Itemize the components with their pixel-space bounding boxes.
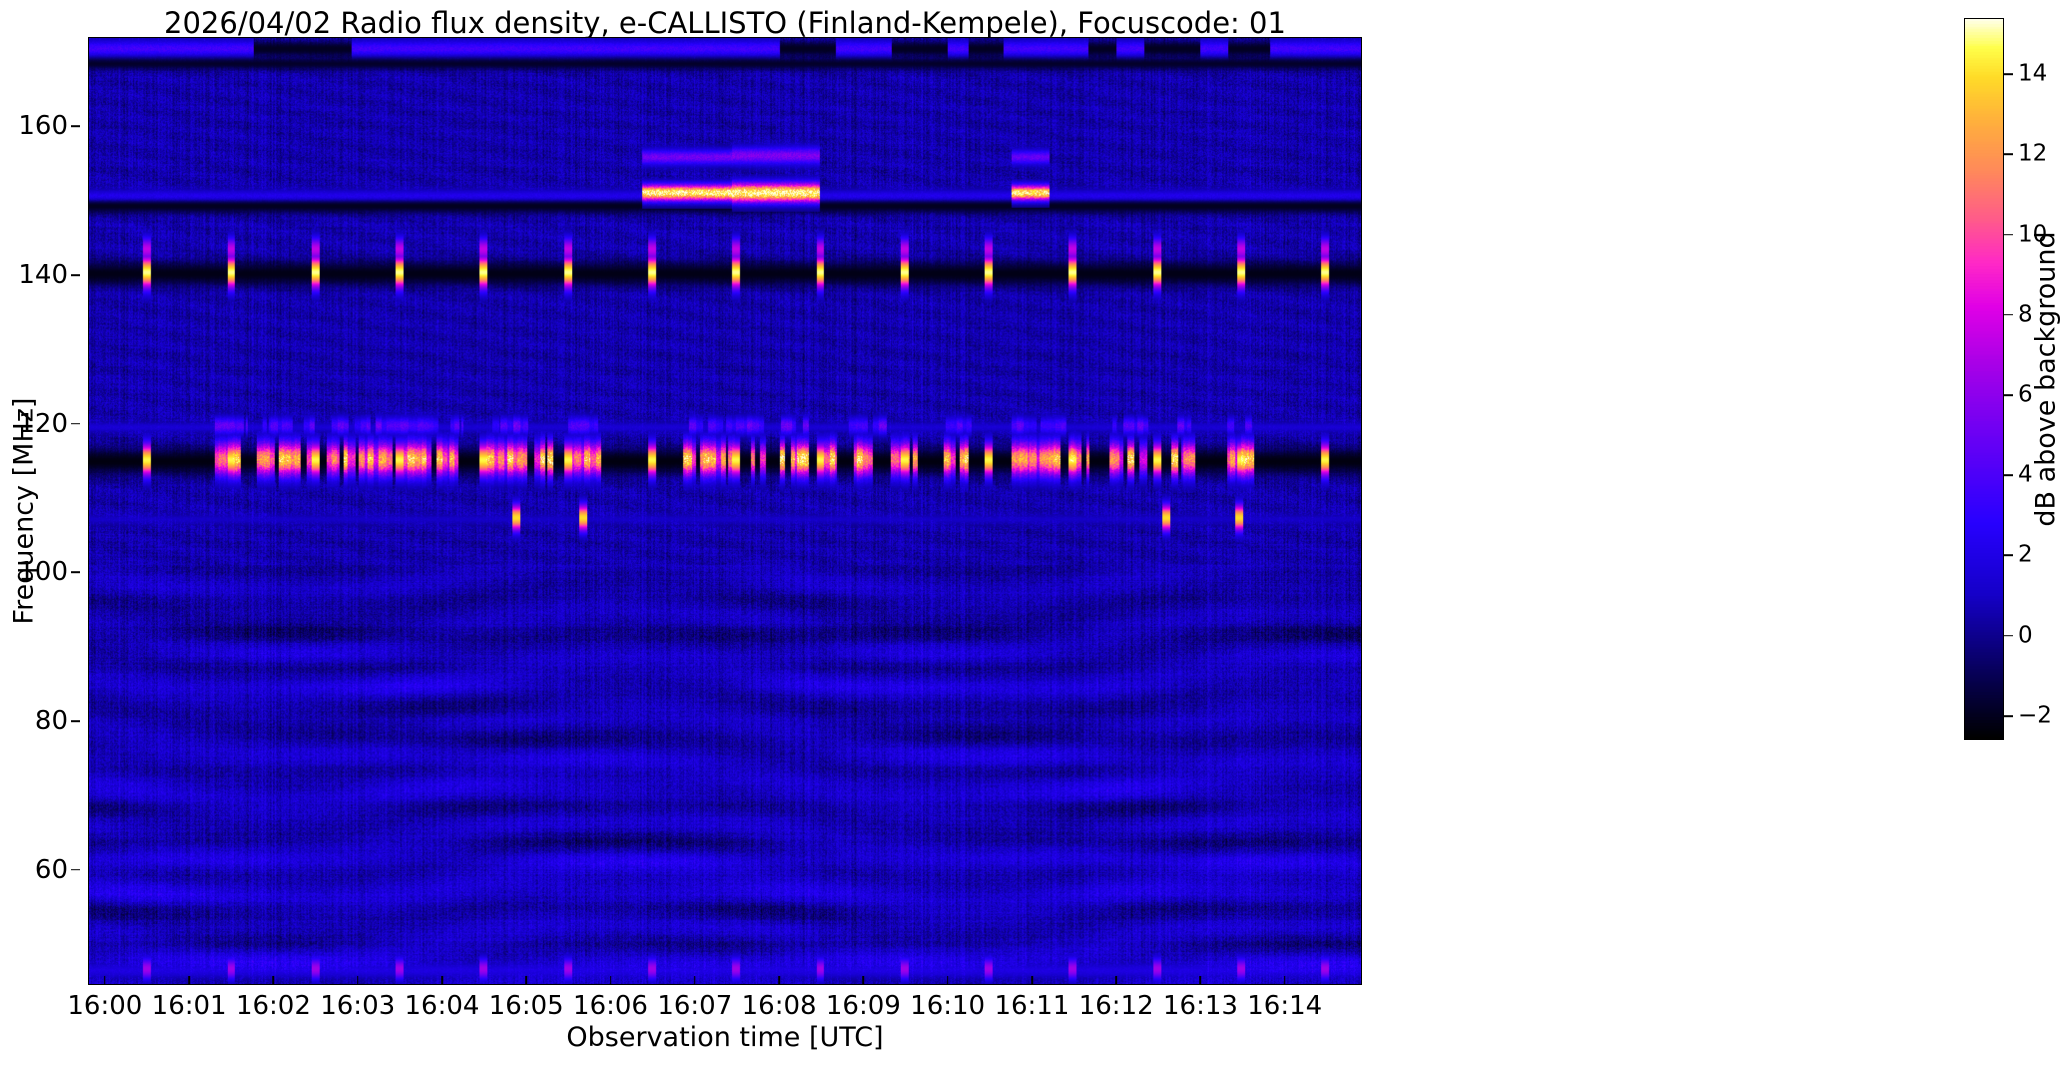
page-title: 2026/04/02 Radio flux density, e-CALLIST… (0, 6, 1450, 40)
colorbar: 14121086420−2 dB above background (1964, 18, 2066, 1018)
x-tick-label: 16:13 (1163, 993, 1238, 1019)
x-tick-label: 16:11 (994, 993, 1069, 1019)
x-tick-mark (357, 976, 359, 985)
x-tick-label: 16:02 (236, 993, 311, 1019)
colorbar-tick-mark (2004, 154, 2013, 156)
x-tick-label: 16:00 (67, 993, 142, 1019)
x-tick-mark (610, 976, 612, 985)
x-tick-mark (947, 976, 949, 985)
colorbar-tick-mark (2004, 555, 2013, 557)
x-tick-label: 16:09 (826, 993, 901, 1019)
x-tick-label: 16:08 (742, 993, 817, 1019)
spectrogram-image[interactable] (89, 38, 1361, 984)
x-tick-mark (188, 976, 190, 985)
x-tick-mark (1031, 976, 1033, 985)
y-tick-label: 60 (35, 857, 68, 883)
colorbar-tick-mark (2004, 234, 2013, 236)
y-axis-ticks: 1601401201008060 (0, 37, 80, 985)
y-tick-label: 160 (18, 113, 68, 139)
y-tick-label: 120 (18, 411, 68, 437)
x-tick-mark (1284, 976, 1286, 985)
x-tick-label: 16:03 (320, 993, 395, 1019)
colorbar-label: dB above background (2026, 18, 2066, 740)
y-tick-label: 80 (35, 708, 68, 734)
x-tick-mark (104, 976, 106, 985)
y-tick-mark (71, 572, 80, 574)
colorbar-tick-mark (2004, 474, 2013, 476)
x-axis-label: Observation time [UTC] (88, 1022, 1362, 1053)
figure-root: 2026/04/02 Radio flux density, e-CALLIST… (0, 0, 2066, 1067)
x-tick-label: 16:14 (1247, 993, 1322, 1019)
colorbar-tick-mark (2004, 715, 2013, 717)
x-tick-mark (1200, 976, 1202, 985)
y-tick-mark (71, 720, 80, 722)
x-tick-label: 16:06 (573, 993, 648, 1019)
x-tick-label: 16:04 (404, 993, 479, 1019)
colorbar-tick-mark (2004, 73, 2013, 75)
x-tick-mark (273, 976, 275, 985)
x-tick-label: 16:12 (1079, 993, 1154, 1019)
x-tick-label: 16:05 (489, 993, 564, 1019)
x-tick-mark (525, 976, 527, 985)
x-tick-label: 16:07 (657, 993, 732, 1019)
colorbar-canvas (1965, 19, 2003, 739)
y-tick-label: 100 (18, 559, 68, 585)
x-tick-mark (694, 976, 696, 985)
y-tick-mark (71, 423, 80, 425)
colorbar-tick-mark (2004, 394, 2013, 396)
y-tick-mark (71, 274, 80, 276)
x-tick-mark (441, 976, 443, 985)
colorbar-tick-mark (2004, 314, 2013, 316)
x-tick-label: 16:01 (152, 993, 227, 1019)
colorbar-gradient (1964, 18, 2004, 740)
colorbar-label-text: dB above background (2031, 231, 2062, 526)
y-tick-label: 140 (18, 262, 68, 288)
x-tick-mark (1115, 976, 1117, 985)
colorbar-tick-mark (2004, 635, 2013, 637)
x-tick-label: 16:10 (910, 993, 985, 1019)
y-tick-mark (71, 869, 80, 871)
spectrogram-axes[interactable] (88, 37, 1362, 985)
x-tick-mark (778, 976, 780, 985)
y-tick-mark (71, 125, 80, 127)
x-tick-mark (863, 976, 865, 985)
